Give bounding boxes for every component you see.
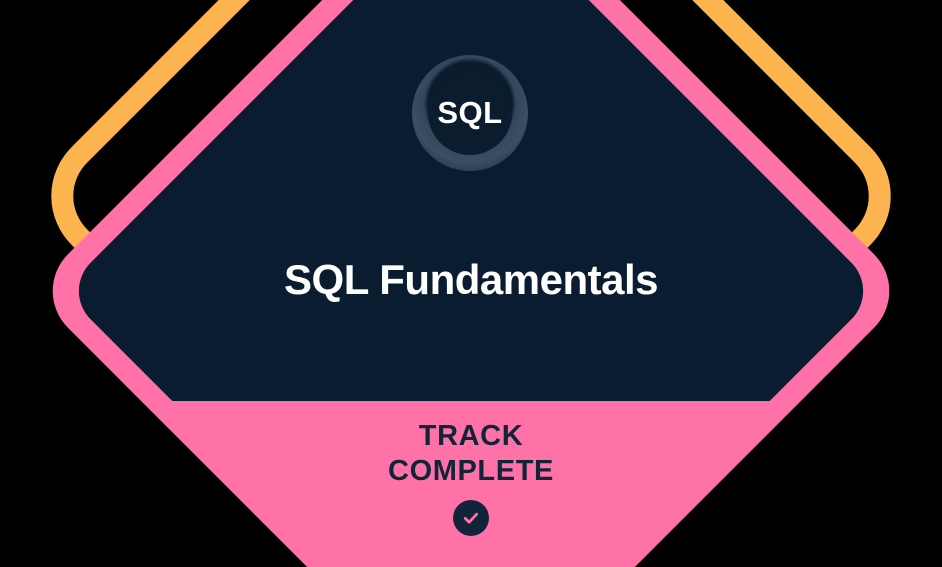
check-badge-wrap — [0, 500, 942, 536]
status-line-track: TRACK — [0, 419, 942, 454]
status-line-complete: COMPLETE — [0, 454, 942, 489]
track-completion-badge: SQL SQL Fundamentals TRACK COMPLETE — [0, 0, 942, 567]
emblem-label: SQL — [437, 95, 502, 131]
check-mark-icon — [453, 500, 489, 536]
sql-circle-emblem-icon: SQL — [412, 55, 528, 171]
badge-title: SQL Fundamentals — [0, 256, 942, 304]
check-glyph — [461, 508, 481, 528]
track-status-block: TRACK COMPLETE — [0, 419, 942, 536]
